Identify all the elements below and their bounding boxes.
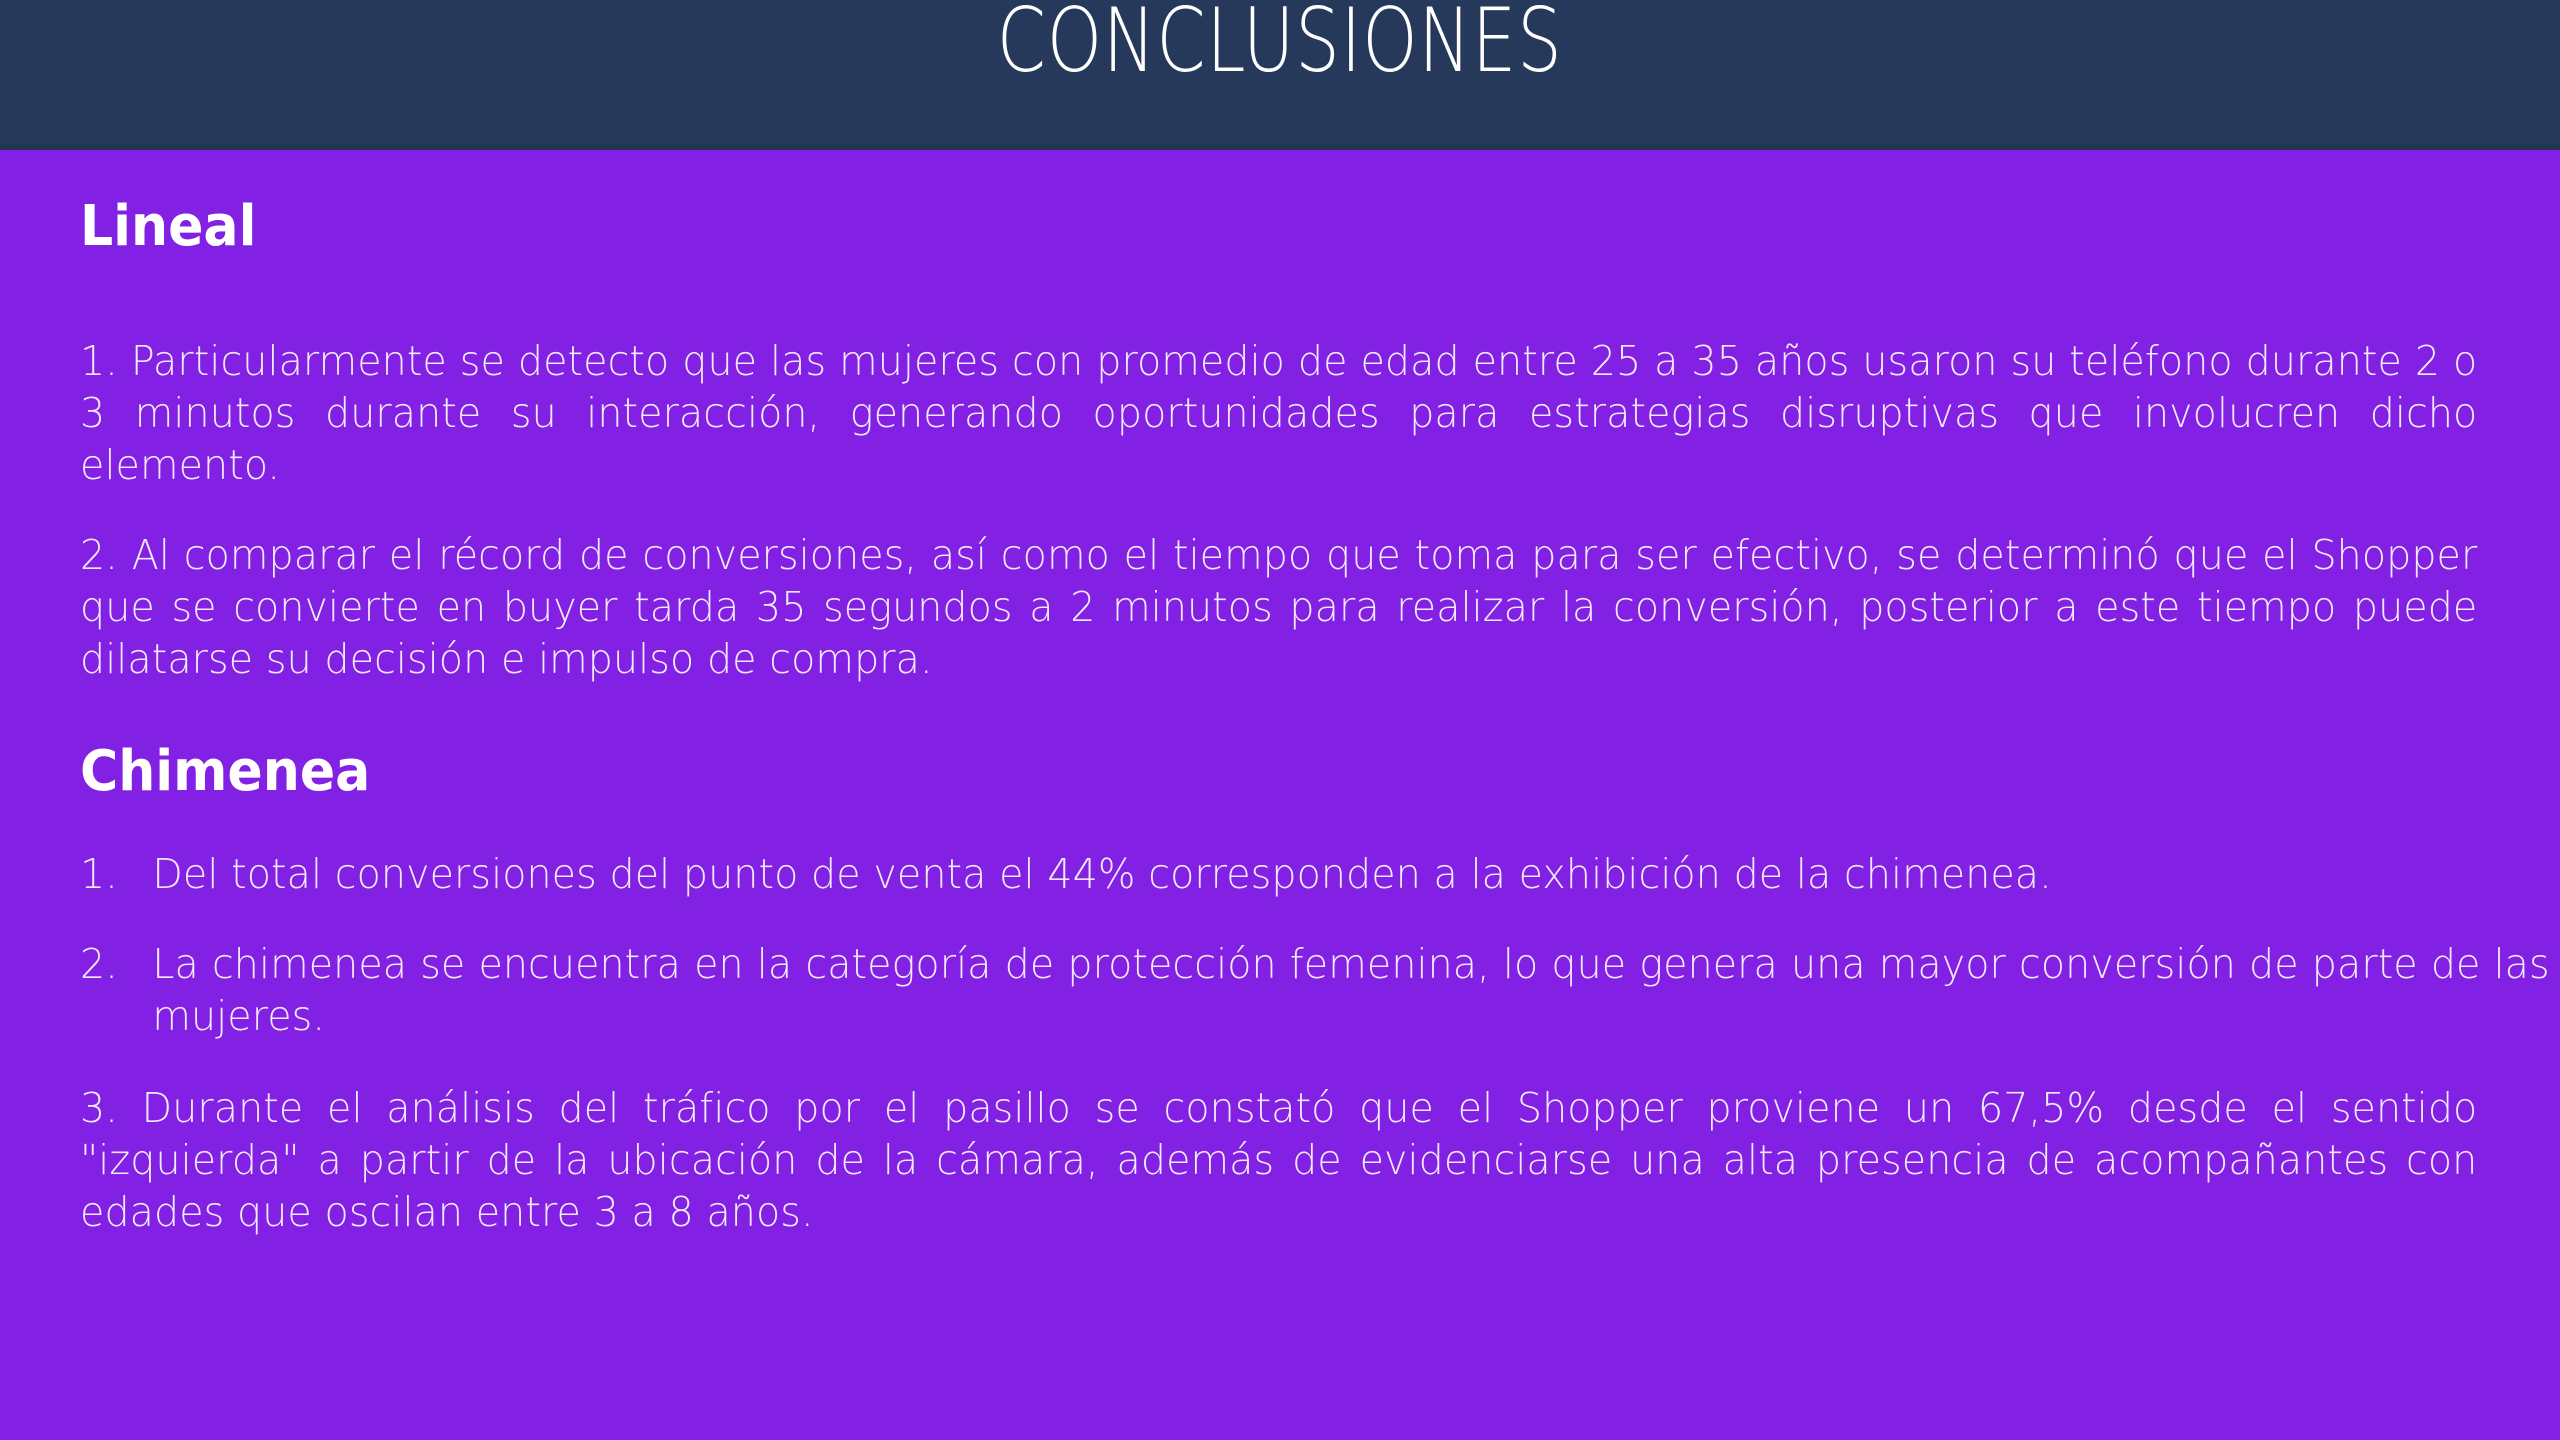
spacer xyxy=(80,491,2478,529)
spacer xyxy=(80,685,2478,743)
list-item-marker: 1. xyxy=(80,848,138,900)
list-item: 1. Del total conversiones del punto de v… xyxy=(80,848,2550,900)
slide: CONCLUSIONES Lineal 1. Particularmente s… xyxy=(0,0,2560,1440)
slide-body: Lineal 1. Particularmente se detecto que… xyxy=(0,150,2560,1440)
list-item: 2. La chimenea se encuentra en la catego… xyxy=(80,938,2550,1042)
lineal-paragraph-1: 1. Particularmente se detecto que las mu… xyxy=(80,335,2477,491)
spacer xyxy=(80,802,2478,848)
section-heading-chimenea: Chimenea xyxy=(80,743,2310,802)
spacer xyxy=(80,1042,2478,1082)
list-item-text: La chimenea se encuentra en la categoría… xyxy=(152,940,2549,1040)
list-item-marker: 2. xyxy=(80,938,138,990)
slide-title-bar: CONCLUSIONES xyxy=(0,0,2560,150)
chimenea-list: 1. Del total conversiones del punto de v… xyxy=(80,848,2478,1042)
section-heading-lineal: Lineal xyxy=(80,198,2310,257)
list-item-text: Del total conversiones del punto de vent… xyxy=(152,850,2051,898)
spacer xyxy=(80,257,2478,335)
lineal-paragraph-2: 2. Al comparar el récord de conversiones… xyxy=(80,529,2477,685)
chimenea-paragraph-3: 3. Durante el análisis del tráfico por e… xyxy=(80,1082,2477,1238)
page-title: CONCLUSIONES xyxy=(997,0,1563,85)
